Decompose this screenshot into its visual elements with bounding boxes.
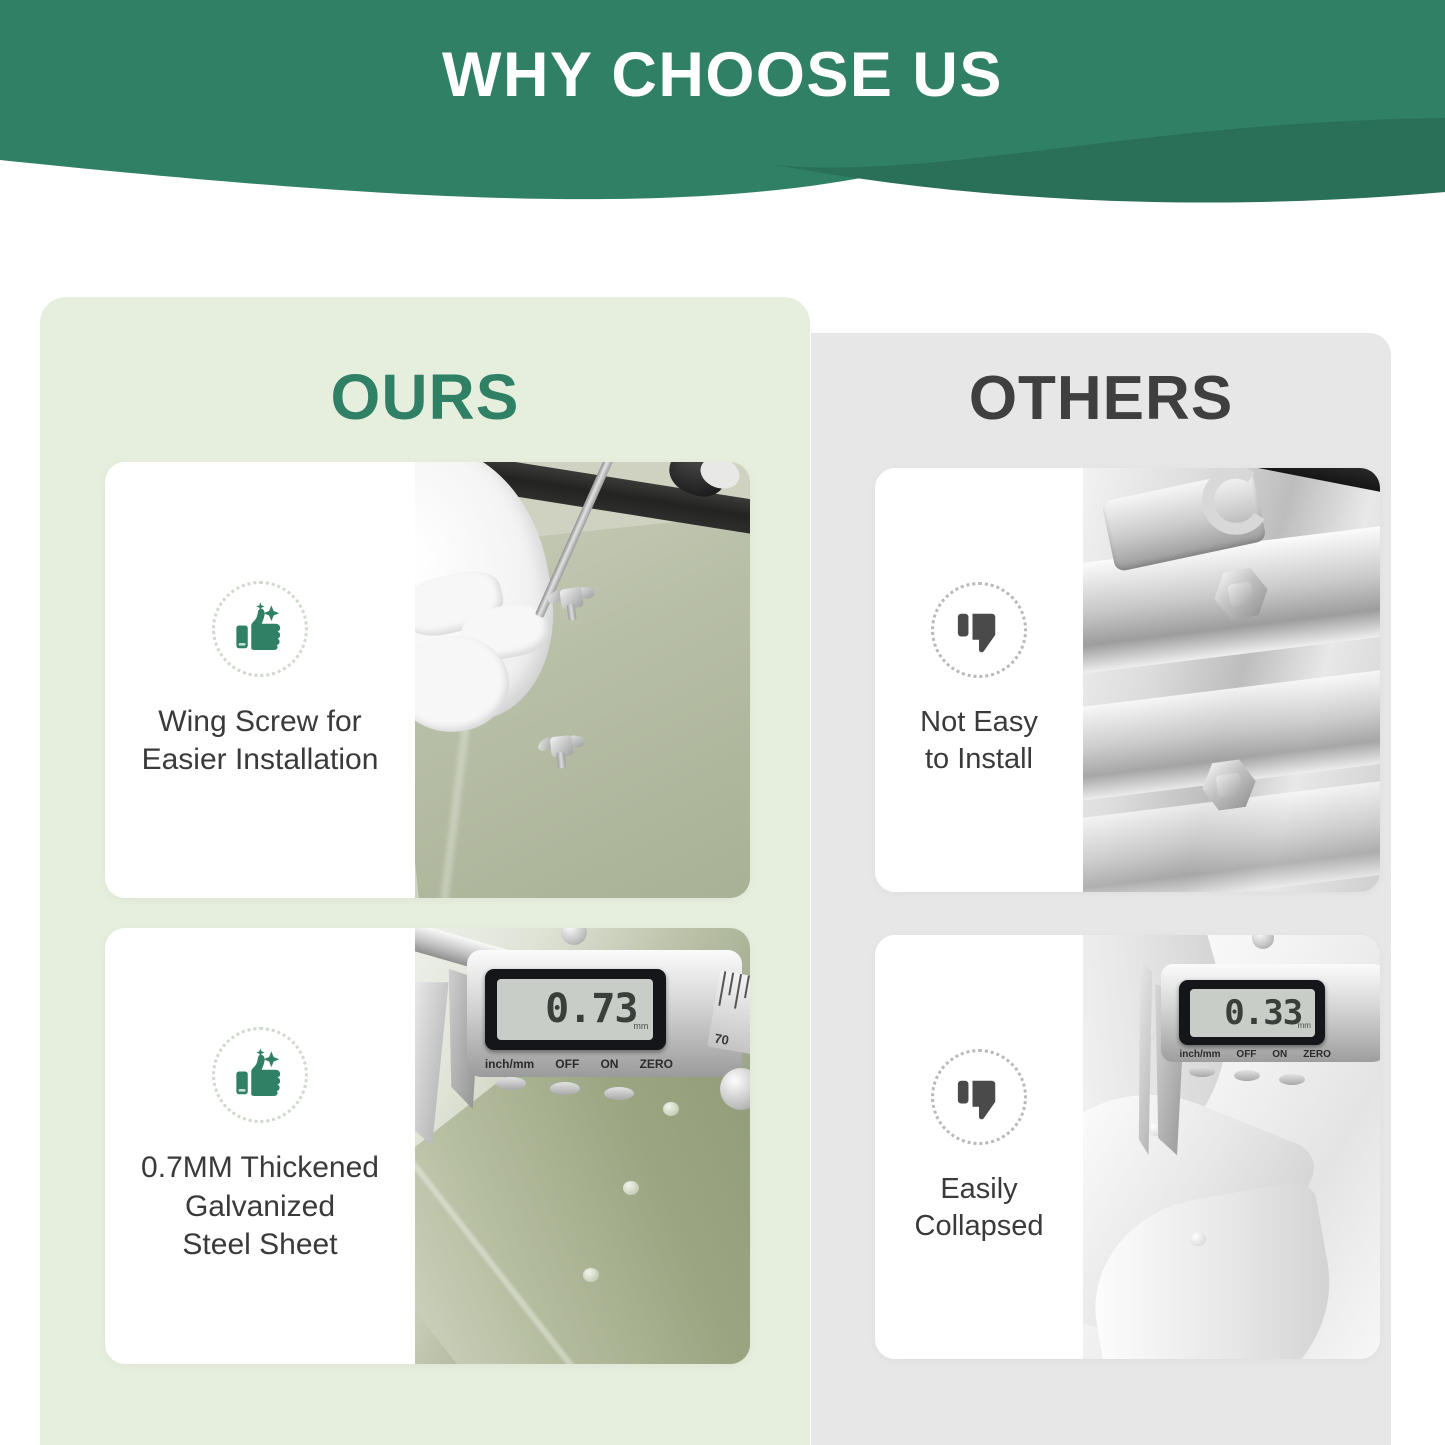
caliper-button-zero[interactable]: ZERO (640, 1057, 673, 1071)
others-card-2-caption: Easily Collapsed (911, 1171, 1048, 1245)
caption-line: Collapsed (915, 1208, 1044, 1245)
caliper-button-zero[interactable]: ZERO (1303, 1049, 1331, 1060)
header-banner: WHY CHOOSE US (0, 0, 1445, 215)
caliper-button-off[interactable]: OFF (1236, 1049, 1256, 1060)
ours-card-wing-screw[interactable]: Wing Screw for Easier Installation (105, 462, 750, 898)
others-card-1-caption: Not Easy to Install (916, 704, 1042, 778)
caption-line: to Install (920, 741, 1038, 778)
gloved-hand-wing-screw-photo (415, 462, 750, 898)
ours-card-1-caption: Wing Screw for Easier Installation (138, 703, 383, 780)
caption-line: Not Easy (920, 704, 1038, 741)
caliper-button-on[interactable]: ON (600, 1057, 618, 1071)
others-heading: OTHERS (811, 368, 1391, 430)
caliper-scale-number: 70 (713, 1030, 730, 1047)
thumbs-up-sparkle-icon (212, 1027, 308, 1123)
thumbs-up-sparkle-icon (212, 581, 308, 677)
thumbs-down-icon (931, 1049, 1027, 1145)
thumbs-down-icon (931, 582, 1027, 678)
digital-caliper: 0.33 mm inch/mm OFF ON ZERO (1107, 943, 1380, 1147)
caliper-white-sheet-photo: 0.33 mm inch/mm OFF ON ZERO (1083, 935, 1380, 1359)
page-title: WHY CHOOSE US (0, 44, 1445, 107)
caliper-mode-label: inch/mm (485, 1057, 534, 1071)
others-card-collapsed[interactable]: Easily Collapsed 0.33 mm inch/mm OFF (875, 935, 1380, 1359)
caliper-mode-label: inch/mm (1179, 1049, 1220, 1060)
caption-line: Galvanized (141, 1188, 379, 1226)
others-card-install[interactable]: Not Easy to Install (875, 468, 1380, 892)
caliper-button-on[interactable]: ON (1272, 1049, 1287, 1060)
caliper-button-off[interactable]: OFF (555, 1057, 579, 1071)
others-card-2-text-area: Easily Collapsed (875, 935, 1083, 1359)
caption-line: Easily (915, 1171, 1044, 1208)
ours-heading: OURS (40, 365, 810, 429)
caption-line: Easier Installation (142, 741, 379, 779)
caption-line: Wing Screw for (142, 703, 379, 741)
caliper-unit: mm (1298, 1021, 1311, 1030)
caption-line: Steel Sheet (141, 1226, 379, 1264)
wrench-hex-bolt-photo (1083, 468, 1380, 892)
others-card-1-text-area: Not Easy to Install (875, 468, 1083, 892)
ours-card-2-text-area: 0.7MM Thickened Galvanized Steel Sheet (105, 928, 415, 1364)
ours-card-2-caption: 0.7MM Thickened Galvanized Steel Sheet (137, 1149, 383, 1264)
digital-caliper: 0.73 mm inch/mm OFF ON ZERO 70 (415, 932, 750, 1159)
caliper-unit: mm (633, 1021, 648, 1031)
ours-card-thickness[interactable]: 0.7MM Thickened Galvanized Steel Sheet 0… (105, 928, 750, 1364)
caption-line: 0.7MM Thickened (141, 1149, 379, 1187)
caliper-green-sheet-photo: 0.73 mm inch/mm OFF ON ZERO 70 (415, 928, 750, 1364)
ours-card-1-text-area: Wing Screw for Easier Installation (105, 462, 415, 898)
